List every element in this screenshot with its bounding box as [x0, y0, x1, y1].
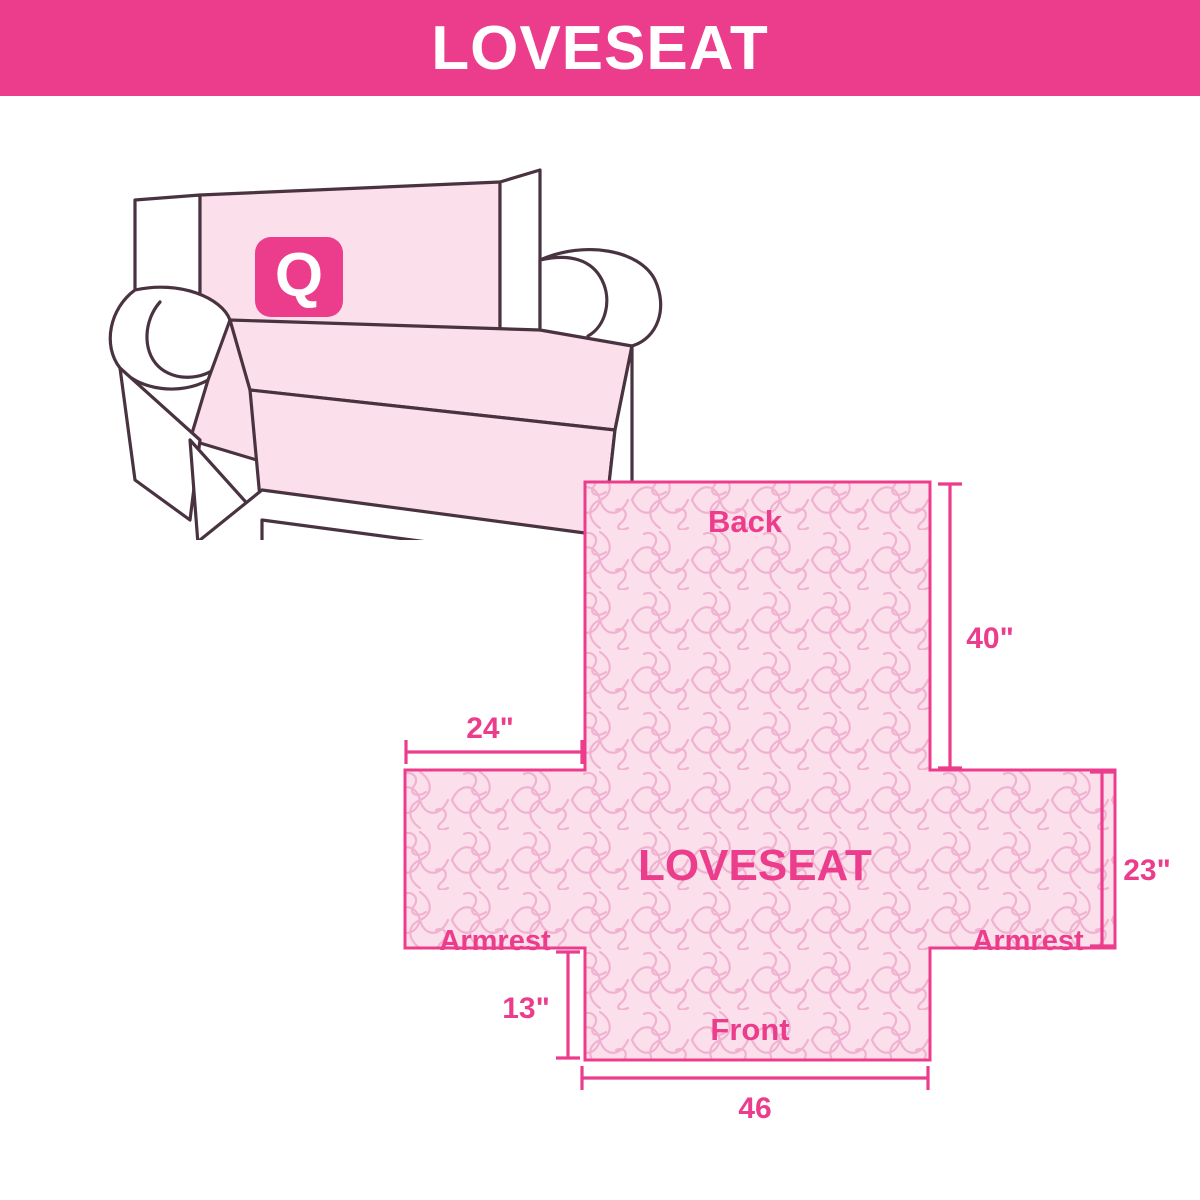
dimension-back-width-value: 24" — [466, 712, 514, 745]
dimension-front-width-value: 46 — [738, 1092, 771, 1125]
label-front: Front — [710, 1012, 789, 1047]
cover-layout-diagram: Back LOVESEAT Armrest Armrest Front 40" … — [390, 470, 1180, 1130]
page-root: LOVESEAT — [0, 0, 1200, 1200]
header-bar: LOVESEAT — [0, 0, 1200, 96]
svg-text:Q: Q — [275, 241, 323, 310]
dimension-back-height — [938, 484, 962, 768]
label-center: LOVESEAT — [638, 841, 872, 890]
cover-shape — [405, 482, 1115, 1060]
page-title: LOVESEAT — [431, 13, 769, 84]
label-back: Back — [708, 504, 783, 539]
dimension-armrest-height-value: 23" — [1123, 854, 1171, 887]
dimension-front-height — [556, 952, 580, 1058]
label-armrest-left: Armrest — [439, 925, 551, 957]
label-armrest-right: Armrest — [972, 925, 1084, 957]
dimension-front-width — [582, 1066, 928, 1090]
dimension-front-height-value: 13" — [502, 992, 550, 1025]
dimension-back-height-value: 40" — [966, 622, 1014, 655]
brand-logo-badge: Q — [255, 237, 343, 317]
